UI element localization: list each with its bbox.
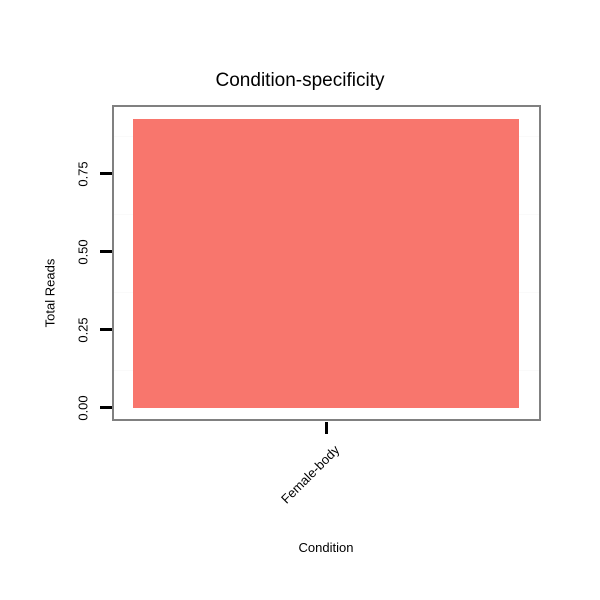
plot-panel-inner	[114, 107, 539, 419]
x-tick-mark-female-body	[325, 422, 328, 434]
x-axis-title: Condition	[0, 540, 600, 555]
y-tick-mark-0.00	[100, 406, 112, 409]
y-tick-label-2: 0.50	[76, 239, 91, 264]
y-tick-mark-0.25	[100, 328, 112, 331]
chart-canvas: Condition-specificity 0.00 0.25 0.50 0.7…	[0, 0, 600, 600]
y-tick-label-3: 0.75	[76, 161, 91, 186]
chart-title: Condition-specificity	[0, 70, 600, 92]
plot-panel	[112, 105, 541, 421]
bar-female-body[interactable]	[133, 119, 519, 408]
y-tick-label-1: 0.25	[76, 317, 91, 342]
y-tick-mark-0.75	[100, 172, 112, 175]
y-tick-label-0: 0.00	[76, 395, 91, 420]
x-tick-label-female-body: Female-body	[240, 442, 343, 545]
y-tick-mark-0.50	[100, 250, 112, 253]
y-axis-title: Total Reads	[43, 259, 58, 328]
